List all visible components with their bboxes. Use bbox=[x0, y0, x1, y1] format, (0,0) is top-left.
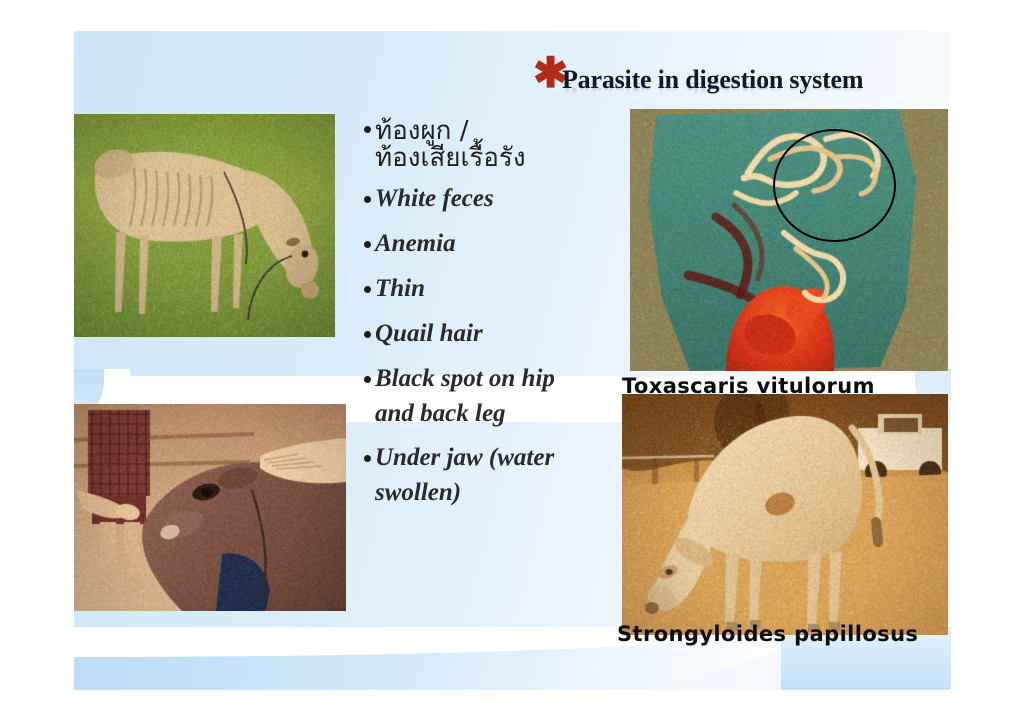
photo-under-jaw-examination bbox=[74, 404, 346, 611]
caption-strongyloides-papillosus: Strongyloides papillosus bbox=[617, 622, 918, 646]
bullet-dot-icon bbox=[364, 455, 371, 462]
list-item-label: Thin bbox=[375, 274, 425, 304]
list-item: Black spot on hip bbox=[364, 364, 614, 394]
list-item: Quail hair bbox=[364, 319, 614, 349]
list-item-label: White feces bbox=[375, 184, 494, 214]
list-item-label: and back leg bbox=[375, 399, 506, 429]
symptom-bullet-list: ท้องผูก / ท้องเสียเรื้อรัง White feces A… bbox=[364, 114, 614, 515]
list-item: White feces bbox=[364, 184, 614, 214]
bullet-dot-icon bbox=[364, 376, 371, 383]
bullet-dot-icon bbox=[364, 126, 371, 133]
worm-highlight-ellipse bbox=[773, 129, 896, 242]
bullet-dot-icon bbox=[364, 196, 371, 203]
list-item-continuation: swollen) bbox=[364, 478, 614, 508]
caption-toxascaris-vitulorum: Toxascaris vitulorum bbox=[622, 374, 875, 398]
list-item: Thin bbox=[364, 274, 614, 304]
slide-canvas: ✱ Parasite in digestion system Parasite … bbox=[0, 0, 1024, 724]
bullet-dot-icon bbox=[364, 241, 371, 248]
list-item-label: Anemia bbox=[375, 229, 456, 259]
presentation-slide: ✱ Parasite in digestion system Parasite … bbox=[74, 31, 951, 690]
list-item: ท้องเสียเรื้อรัง bbox=[364, 141, 614, 175]
list-item-label: Black spot on hip bbox=[375, 364, 555, 394]
list-item-continuation: and back leg bbox=[364, 399, 614, 429]
list-item-label: swollen) bbox=[375, 478, 461, 508]
photo-rough-coat-calf bbox=[622, 394, 948, 635]
list-item: Anemia bbox=[364, 229, 614, 259]
list-item-label: Under jaw (water bbox=[375, 443, 554, 473]
list-item-label: ท้องเสียเรื้อรัง bbox=[375, 141, 526, 175]
photo-emaciated-cow-grazing bbox=[74, 114, 335, 337]
list-item-label: Quail hair bbox=[375, 319, 483, 349]
list-item: Under jaw (water bbox=[364, 443, 614, 473]
page-title: Parasite in digestion system bbox=[562, 65, 863, 95]
bullet-dot-icon bbox=[364, 331, 371, 338]
bullet-dot-icon bbox=[364, 286, 371, 293]
